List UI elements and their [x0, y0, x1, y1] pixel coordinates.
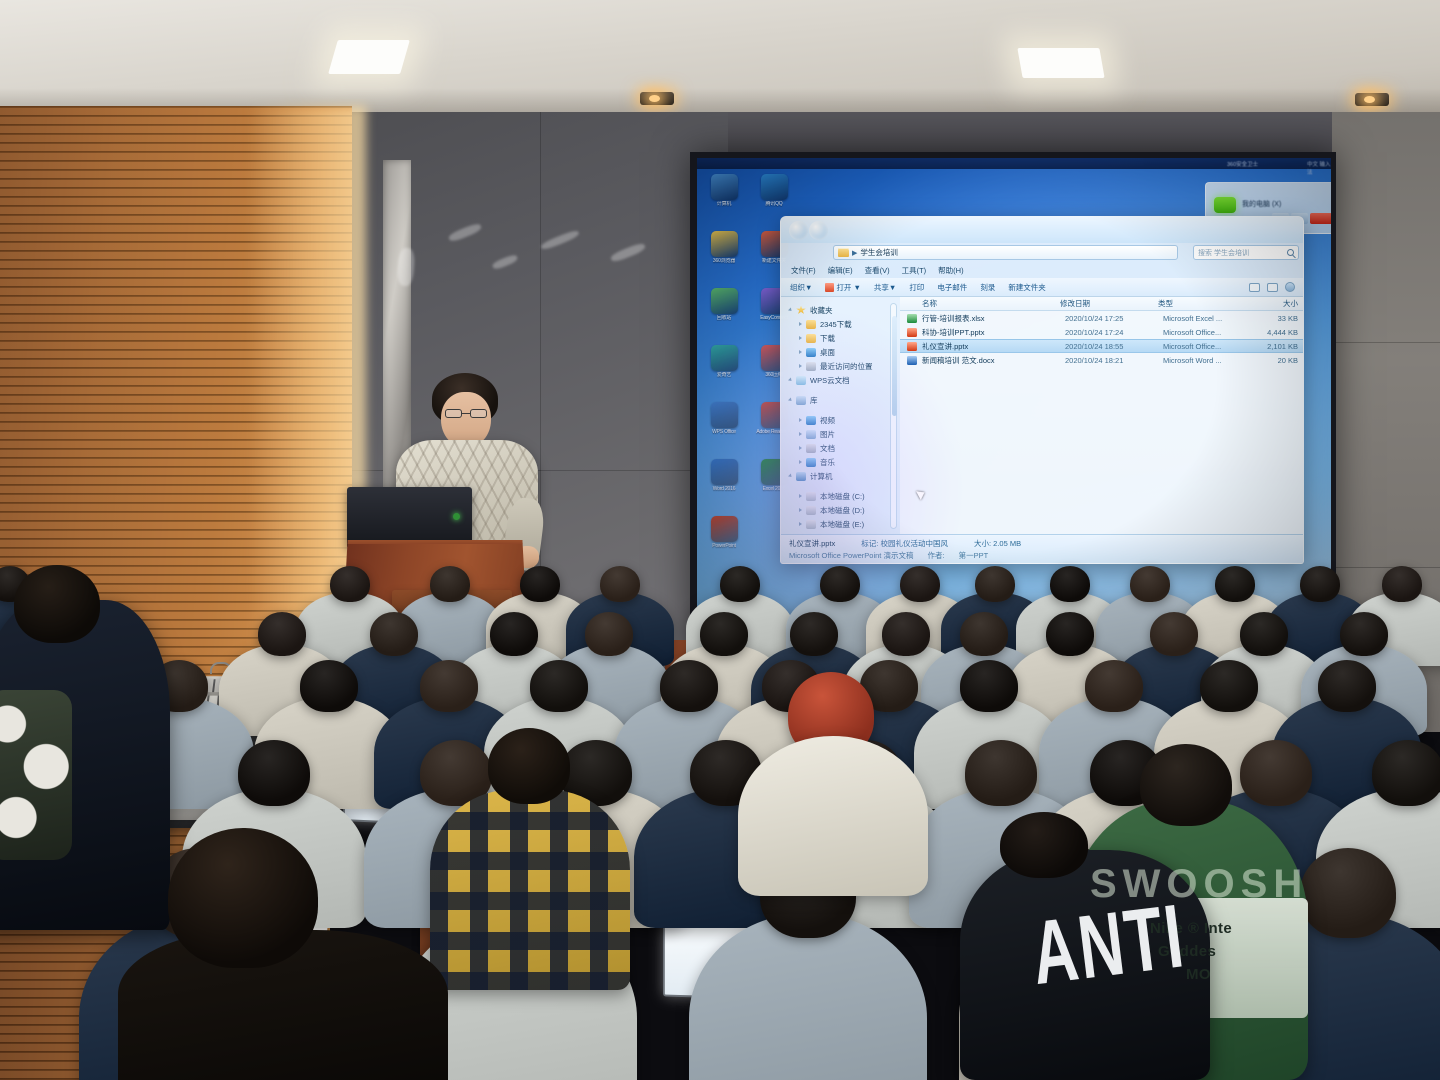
- audience-member-body: [738, 736, 928, 896]
- audience-member-head: [420, 660, 478, 712]
- green-app-icon: [1214, 197, 1236, 213]
- toolbar-button-4[interactable]: 打印: [909, 282, 924, 293]
- column-header-type[interactable]: 类型: [1158, 298, 1246, 309]
- audience-member-head: [660, 660, 718, 712]
- desktop-top-strip: 360安全卫士 中文 输入法: [697, 158, 1331, 169]
- explorer-titlebar[interactable]: [781, 217, 1303, 243]
- audience-member-head: [530, 660, 588, 712]
- explorer-toolbar[interactable]: 组织▼打开▼共享▼打印电子邮件刻录新建文件夹: [781, 278, 1303, 297]
- audience-member-head: [820, 566, 860, 602]
- audience-member-plaid-shirt: [430, 790, 630, 990]
- chevron-down-icon[interactable]: ▼: [889, 283, 896, 292]
- toolbar-button-label: 刻录: [980, 283, 995, 292]
- audience-member-head: [1050, 566, 1090, 602]
- audience-member-head: [14, 565, 100, 643]
- folder-icon: [838, 248, 849, 257]
- status-size-label: 大小:: [974, 539, 991, 548]
- toolbar-button-1[interactable]: 组织▼: [790, 282, 812, 293]
- camo-backpack: [0, 690, 72, 860]
- menu-item-3[interactable]: 查看(V): [865, 265, 890, 276]
- file-type-cell: Microsoft Excel ...: [1163, 314, 1251, 323]
- explorer-navbar: ▶ 学生会培训 搜索 学生会培训: [827, 243, 1304, 262]
- toolbar-button-label: 共享: [874, 283, 889, 292]
- column-header-date[interactable]: 修改日期: [1060, 298, 1158, 309]
- background-window-label: 我的电脑 (X): [1242, 199, 1281, 209]
- file-size-cell: 20 KB: [1251, 356, 1303, 365]
- audience-member-head: [300, 660, 358, 712]
- menu-item-2[interactable]: 编辑(E): [828, 265, 853, 276]
- audience-member-head: [1300, 566, 1340, 602]
- glasses-icon: [445, 409, 487, 418]
- audience-member-head: [1150, 612, 1198, 656]
- audience-member-head: [1085, 660, 1143, 712]
- lecture-hall-scene: 360安全卫士 中文 输入法 计算机腾讯QQ360浏览器新建文件夹回收站Easy…: [0, 0, 1440, 1080]
- forward-button[interactable]: [809, 221, 828, 240]
- chevron-down-icon[interactable]: ▼: [805, 283, 812, 292]
- back-button[interactable]: [789, 221, 808, 240]
- audience-member-head: [600, 566, 640, 602]
- audience-member-head: [1382, 566, 1422, 602]
- audience-member-head: [1300, 848, 1396, 938]
- file-type-cell: Microsoft Word ...: [1163, 356, 1251, 365]
- ceiling-light-panel: [328, 40, 410, 74]
- toolbar-button-label: 新建文件夹: [1008, 283, 1046, 292]
- file-date-cell: 2020/10/24 18:21: [1065, 356, 1163, 365]
- ceiling-spotlight: [640, 92, 674, 105]
- audience-member-head: [1240, 740, 1312, 806]
- desktop-icon-label: 360浏览器: [703, 258, 745, 264]
- breadcrumb-separator: ▶: [852, 249, 857, 257]
- audience-member-head: [430, 566, 470, 602]
- help-icon[interactable]: [1285, 282, 1295, 292]
- toolbar-button-5[interactable]: 电子邮件: [937, 282, 967, 293]
- view-mode-icon[interactable]: [1249, 283, 1260, 292]
- audience-member-head: [488, 728, 570, 804]
- audience-member-head: [1215, 566, 1255, 602]
- audience-member-head: [1372, 740, 1440, 806]
- audience-member-head: [960, 612, 1008, 656]
- audience-member-head: [960, 660, 1018, 712]
- file-size-cell: 33 KB: [1251, 314, 1303, 323]
- menu-item-4[interactable]: 工具(T): [902, 265, 927, 276]
- file-date-cell: 2020/10/24 17:24: [1065, 328, 1163, 337]
- toolbar-button-label: 电子邮件: [937, 283, 967, 292]
- toolbar-button-7[interactable]: 新建文件夹: [1008, 282, 1046, 293]
- file-size-cell: 2,101 KB: [1251, 342, 1303, 351]
- file-size-cell: 4,444 KB: [1251, 328, 1303, 337]
- audience-member-head: [700, 612, 748, 656]
- toolbar-button-label: 打开: [836, 282, 851, 293]
- toolbar-button-label: 组织: [790, 283, 805, 292]
- file-date-cell: 2020/10/24 18:55: [1065, 342, 1163, 351]
- desktop-icon-1[interactable]: 计算机: [703, 174, 745, 207]
- audience-member-head: [168, 828, 318, 968]
- explorer-menubar[interactable]: 文件(F)编辑(E)查看(V)工具(T)帮助(H): [781, 263, 1303, 278]
- desktop-icon-label: 计算机: [703, 201, 745, 207]
- app-icon: [711, 174, 738, 200]
- audience-member-head: [965, 740, 1037, 806]
- audience-member-head: [1130, 566, 1170, 602]
- ceiling-spotlight: [1355, 93, 1389, 106]
- audience-member-head: [370, 612, 418, 656]
- desktop-icon-2[interactable]: 腾讯QQ: [753, 174, 795, 207]
- audience-member-head: [238, 740, 310, 806]
- audience-member-head: [1200, 660, 1258, 712]
- toolbar-button-3[interactable]: 共享▼: [874, 282, 896, 293]
- audience-member-head: [900, 566, 940, 602]
- garment-text-anti: ANTI: [1026, 885, 1190, 1006]
- audience-member-head: [790, 612, 838, 656]
- topbar-right-label: 中文 输入法: [1307, 160, 1331, 176]
- audience-member-head: [1000, 812, 1088, 878]
- app-icon: [711, 231, 738, 257]
- status-size-value: 2.05 MB: [993, 539, 1021, 548]
- audience-member-head: [882, 612, 930, 656]
- audience-member-head: [1240, 612, 1288, 656]
- audience-member-head: [720, 566, 760, 602]
- search-input[interactable]: 搜索 学生会培训: [1193, 245, 1299, 260]
- audience-member-head: [1140, 744, 1232, 826]
- audience-member-head: [520, 566, 560, 602]
- audience-member-head: [330, 566, 370, 602]
- podium-monitor: [347, 487, 472, 549]
- column-header-size[interactable]: 大小: [1246, 298, 1298, 309]
- preview-pane-icon[interactable]: [1267, 283, 1278, 292]
- desktop-icon-3[interactable]: 360浏览器: [703, 231, 745, 264]
- search-placeholder: 搜索 学生会培训: [1198, 248, 1249, 258]
- file-type-cell: Microsoft Office...: [1163, 342, 1251, 351]
- toolbar-button-6[interactable]: 刻录: [980, 282, 995, 293]
- audience-member-head: [258, 612, 306, 656]
- ceiling-light-panel: [1017, 48, 1104, 78]
- file-date-cell: 2020/10/24 17:25: [1065, 314, 1163, 323]
- app-icon: [761, 174, 788, 200]
- file-type-cell: Microsoft Office...: [1163, 328, 1251, 337]
- desktop-icon-label: 腾讯QQ: [753, 201, 795, 207]
- audience-member-head: [975, 566, 1015, 602]
- audience-member-head: [1318, 660, 1376, 712]
- toolbar-button-2[interactable]: 打开▼: [825, 282, 860, 293]
- power-led-icon: [453, 513, 460, 520]
- audience-member-head: [1340, 612, 1388, 656]
- topbar-left-label: 360安全卫士: [1227, 160, 1258, 168]
- close-icon[interactable]: [1310, 213, 1331, 224]
- open-app-icon: [825, 283, 834, 292]
- audience-member-head: [585, 612, 633, 656]
- chevron-down-icon[interactable]: ▼: [853, 283, 860, 292]
- audience-member-head: [490, 612, 538, 656]
- toolbar-view-controls[interactable]: [1249, 282, 1303, 292]
- breadcrumb[interactable]: ▶ 学生会培训: [833, 245, 1178, 260]
- audience-member-head: [1046, 612, 1094, 656]
- menu-item-5[interactable]: 帮助(H): [938, 265, 963, 276]
- menu-item-1[interactable]: 文件(F): [791, 265, 816, 276]
- breadcrumb-path: 学生会培训: [860, 247, 898, 258]
- toolbar-button-label: 打印: [909, 283, 924, 292]
- search-icon: [1287, 249, 1294, 256]
